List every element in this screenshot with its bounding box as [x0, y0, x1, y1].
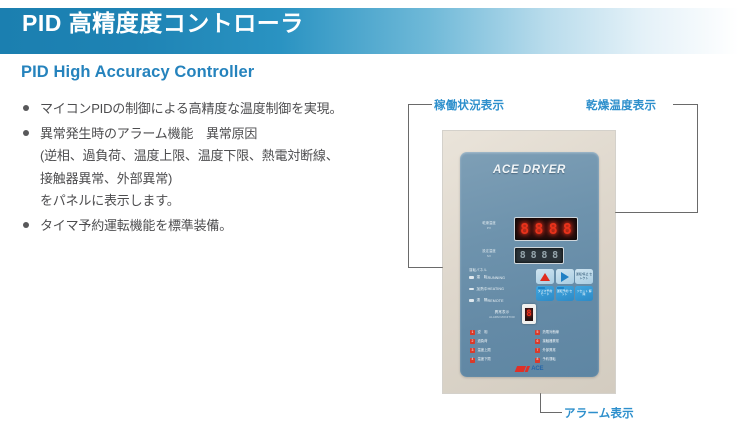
alarm-number: 7: [535, 348, 540, 353]
leader-line: [408, 104, 432, 105]
feature-text: 接触器異常、外部異常): [40, 168, 415, 191]
label-en: PV: [472, 226, 506, 231]
status-indicator-run: 運 転 RUNNING: [469, 275, 531, 280]
play-button[interactable]: [556, 269, 574, 284]
triangle-up-icon: [540, 273, 550, 281]
page-subtitle: PID High Accuracy Controller: [21, 63, 254, 82]
led-digit: 8: [534, 222, 543, 237]
status-label: 加熱中: [477, 287, 488, 292]
alarm-number: 8: [535, 358, 540, 363]
list-item: 4 温度下限: [470, 358, 525, 363]
alarm-label: 接触器異常: [543, 340, 559, 344]
alarm-label: 過負荷: [478, 340, 488, 344]
status-label: 遠 隔: [477, 298, 488, 303]
alarm-column-left: 1 逆 相 2 過負荷 3 温度上限 4 温度下限: [470, 330, 525, 367]
drying-temperature-display: 8 8 8 8: [514, 217, 578, 241]
logo-mark-icon: [525, 366, 530, 372]
alarm-display-inner: 8: [525, 308, 533, 321]
alarm-digit: 8: [526, 310, 531, 319]
select-button[interactable]: 運転/停止 セレクト: [575, 269, 593, 284]
list-item: 7 外部異常: [535, 348, 590, 353]
alarm-column-right: 5 熱電対断線 6 接触器異常 7 外部異常 8 予約運転: [535, 330, 590, 367]
alarm-number: 1: [470, 330, 475, 335]
maker-name: ACE: [531, 366, 543, 372]
list-item: 8 予約運転: [535, 358, 590, 363]
brand-logo: ACE DRYER: [460, 164, 599, 176]
status-label: 運 転: [477, 275, 488, 280]
alarm-label: 予約運転: [543, 358, 556, 362]
leader-line: [673, 104, 698, 105]
alarm-label: 外部異常: [543, 349, 556, 353]
leader-line: [697, 104, 698, 212]
alarm-item-list: 1 逆 相 2 過負荷 3 温度上限 4 温度下限 5: [470, 330, 590, 367]
page-title: PID 高精度度コントローラ: [22, 12, 304, 35]
led-icon: [469, 299, 474, 302]
alarm-code-display: 8: [522, 304, 536, 324]
list-item: 5 熱電対断線: [535, 330, 590, 335]
button-label: 運転/停止 セレクト: [575, 273, 593, 280]
alarm-label: 温度下限: [478, 358, 491, 362]
status-label-en: RUNNING: [488, 276, 505, 280]
leader-line: [540, 412, 562, 413]
indicator-icon: [538, 287, 545, 289]
led-digit: 8: [520, 222, 529, 237]
triangle-right-icon: [561, 272, 569, 282]
callout-operation-status: 稼働状況表示: [434, 97, 504, 113]
controller-panel: ACE DRYER 乾燥温度 PV 8 8 8 8 設定温度 SV 8 8 8 …: [460, 152, 599, 377]
feature-text: (逆相、過負荷、温度上限、温度下限、熱電対断線、: [40, 145, 415, 168]
set-temperature-display: 8 8 8 8: [514, 247, 564, 264]
list-item: マイコンPIDの制御による高精度な温度制御を実現。: [20, 98, 415, 121]
feature-text: マイコンPIDの制御による高精度な温度制御を実現。: [40, 98, 415, 121]
button-label: リセット 解除: [575, 290, 593, 297]
status-heading: 運転パネル: [469, 267, 531, 272]
list-item: 異常発生時のアラーム機能 異常原因 (逆相、過負荷、温度上限、温度下限、熱電対断…: [20, 123, 415, 213]
alarm-number: 5: [535, 330, 540, 335]
leader-line: [408, 104, 409, 267]
up-arrow-button[interactable]: [536, 269, 554, 284]
feature-text: タイマ予約運転機能を標準装備。: [40, 215, 415, 238]
bullet-icon: [23, 105, 29, 111]
bullet-icon: [23, 130, 29, 136]
status-indicator-group: 運転パネル 運 転 RUNNING 加熱中 HEATING 遠 隔 REMOTE: [469, 267, 531, 310]
drying-temperature-label: 乾燥温度 PV: [472, 221, 506, 230]
feature-text: 異常発生時のアラーム機能 異常原因: [40, 123, 415, 146]
led-digit: 8: [531, 251, 537, 261]
button-label: タイマ予約 モード: [536, 290, 554, 297]
bullet-icon: [23, 222, 29, 228]
list-item: 6 接触器異常: [535, 339, 590, 344]
alarm-number: 4: [470, 358, 475, 363]
status-label-en: HEATING: [488, 287, 504, 291]
alarm-heading-en: ALARM MONITOR: [476, 315, 528, 320]
list-item: 2 過負荷: [470, 339, 525, 344]
button-label: 運転予約 セット: [556, 290, 574, 297]
confirm-button[interactable]: 運転予約 セット: [556, 286, 574, 301]
led-digit: 8: [552, 251, 558, 261]
alarm-label: 熱電対断線: [543, 331, 559, 335]
alarm-number: 3: [470, 348, 475, 353]
alarm-label: 逆 相: [478, 331, 488, 335]
alarm-number: 2: [470, 339, 475, 344]
led-digit: 8: [563, 222, 572, 237]
alarm-number: 6: [535, 339, 540, 344]
led-digit: 8: [549, 222, 558, 237]
led-icon: [469, 276, 474, 279]
list-item: 1 逆 相: [470, 330, 525, 335]
set-temperature-label: 設定温度 SV: [472, 249, 506, 258]
status-label-en: REMOTE: [488, 299, 504, 303]
list-item: 3 温度上限: [470, 348, 525, 353]
callout-alarm-display: アラーム表示: [564, 405, 634, 421]
led-icon: [469, 288, 474, 291]
feature-text: をパネルに表示します。: [40, 190, 415, 213]
status-indicator-heating: 加熱中 HEATING: [469, 287, 531, 292]
callout-drying-temperature: 乾燥温度表示: [586, 97, 656, 113]
led-digit: 8: [520, 251, 526, 261]
control-button-grid: 運転/停止 セレクト タイマ予約 モード 運転予約 セット リセット 解除: [536, 269, 593, 301]
maker-logo: ACE: [460, 366, 599, 372]
status-indicator-remote: 遠 隔 REMOTE: [469, 298, 531, 303]
feature-list: マイコンPIDの制御による高精度な温度制御を実現。 異常発生時のアラーム機能 異…: [20, 98, 415, 239]
reset-button[interactable]: リセット 解除: [575, 286, 593, 301]
timer-button[interactable]: タイマ予約 モード: [536, 286, 554, 301]
alarm-section-heading: 異常表示 ALARM MONITOR: [476, 310, 528, 319]
list-item: タイマ予約運転機能を標準装備。: [20, 215, 415, 238]
led-digit: 8: [541, 251, 547, 261]
alarm-label: 温度上限: [478, 349, 491, 353]
controller-photo: ACE DRYER 乾燥温度 PV 8 8 8 8 設定温度 SV 8 8 8 …: [443, 131, 615, 393]
indicator-icon: [557, 287, 564, 289]
label-en: SV: [472, 254, 506, 259]
